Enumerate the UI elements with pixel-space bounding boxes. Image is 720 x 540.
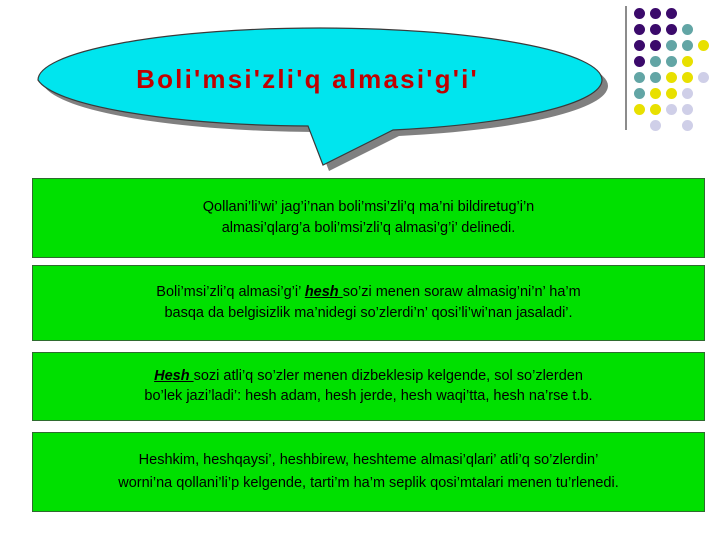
grid-dot [666, 8, 677, 19]
text-segment: bo’lek jazi’ladi’: hesh adam, hesh jerde… [144, 388, 592, 404]
content-box-inflection: Heshkim, heshqaysi’, heshbirew, heshteme… [32, 432, 705, 512]
text-segment: basqa da belgisizlik ma’nidegi so’zlerdi… [164, 305, 572, 321]
grid-dot [650, 40, 661, 51]
text-line: Boli’msi’zli’q almasi’g’i’ hesh so’zi me… [33, 282, 704, 303]
text-line: Hesh sozi atli’q so’zler menen dizbekles… [33, 367, 704, 387]
vertical-divider-line [625, 6, 627, 130]
grid-dot [682, 72, 693, 83]
grid-dot [666, 88, 677, 99]
grid-dot [634, 56, 645, 67]
title-speech-bubble: Boli'msi'zli'q almasi'g'i' [20, 16, 620, 181]
grid-dot [634, 88, 645, 99]
text-line: worni’na qollani’li’p kelgende, tarti’m … [33, 472, 704, 495]
grid-dot [650, 72, 661, 83]
grid-dot [682, 24, 693, 35]
text-segment: Qollani’li’wi’ jag’i’nan boli’msi’zli’q … [203, 199, 534, 215]
text-line: basqa da belgisizlik ma’nidegi so’zlerdi… [33, 303, 704, 324]
grid-dot [682, 104, 693, 115]
grid-dot [682, 40, 693, 51]
grid-dot [682, 120, 693, 131]
decorative-dot-grid [620, 0, 720, 140]
grid-dot [682, 88, 693, 99]
text-segment: Heshkim, heshqaysi’, heshbirew, heshteme… [139, 452, 599, 468]
grid-dot [650, 120, 661, 131]
grid-dot [650, 104, 661, 115]
text-segment: almasi’qlarg’a boli’msi’zli’q almasi’g’i… [222, 220, 516, 236]
grid-dot [698, 72, 709, 83]
grid-dot [650, 24, 661, 35]
grid-dot [634, 8, 645, 19]
speech-bubble-shape [20, 16, 620, 181]
grid-dot [682, 56, 693, 67]
keyword-term: hesh [305, 284, 343, 300]
grid-dot [666, 56, 677, 67]
content-box-formation: Boli’msi’zli’q almasi’g’i’ hesh so’zi me… [32, 265, 705, 341]
grid-dot [650, 88, 661, 99]
text-line: Heshkim, heshqaysi’, heshbirew, heshteme… [33, 449, 704, 472]
grid-dot [666, 40, 677, 51]
grid-dot [634, 40, 645, 51]
text-line: almasi’qlarg’a boli’msi’zli’q almasi’g’i… [33, 218, 704, 239]
content-box-usage: Hesh sozi atli’q so’zler menen dizbekles… [32, 352, 705, 421]
dot-grid-dots [634, 8, 720, 134]
content-box-definition: Qollani’li’wi’ jag’i’nan boli’msi’zli’q … [32, 178, 705, 258]
text-line: bo’lek jazi’ladi’: hesh adam, hesh jerde… [33, 387, 704, 407]
grid-dot [634, 104, 645, 115]
text-segment: worni’na qollani’li’p kelgende, tarti’m … [118, 475, 619, 491]
text-segment: so’zi menen soraw almasig’ni’n’ ha’m [343, 284, 581, 300]
grid-dot [634, 72, 645, 83]
grid-dot [666, 24, 677, 35]
grid-dot [650, 8, 661, 19]
text-segment: Boli’msi’zli’q almasi’g’i’ [156, 284, 305, 300]
grid-dot [666, 104, 677, 115]
text-line: Qollani’li’wi’ jag’i’nan boli’msi’zli’q … [33, 197, 704, 218]
page-title: Boli'msi'zli'q almasi'g'i' [20, 64, 595, 95]
grid-dot [634, 24, 645, 35]
text-segment: sozi atli’q so’zler menen dizbeklesip ke… [194, 368, 583, 384]
grid-dot [698, 40, 709, 51]
grid-dot [666, 72, 677, 83]
grid-dot [650, 56, 661, 67]
slide-canvas: Boli'msi'zli'q almasi'g'i' Qollani’li’wi… [0, 0, 720, 540]
keyword-term: Hesh [154, 368, 194, 384]
